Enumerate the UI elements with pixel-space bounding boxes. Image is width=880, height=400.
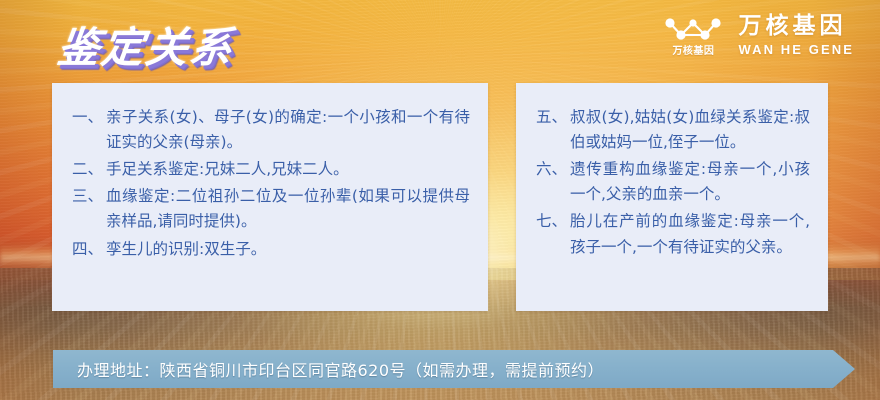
- list-item: 四、孪生儿的识别:双生子。: [72, 237, 470, 262]
- brand-logo: 万核基因: [662, 14, 724, 57]
- list-item-number: 七、: [536, 209, 570, 234]
- brand-lockup: 万核基因 万核基因 WAN HE GENE: [662, 14, 854, 57]
- list-item: 一、亲子关系(女)、母子(女)的确定:一个小孩和一个有待证实的父亲(母亲)。: [72, 105, 470, 155]
- list-item-number: 一、: [72, 105, 106, 130]
- address-banner: 办理地址：陕西省铜川市印台区同官路620号（如需办理，需提前预约）: [53, 350, 855, 388]
- list-item: 三、血缘鉴定:二位祖孙二位及一位孙辈(如果可以提供母亲样品,请同时提供)。: [72, 184, 470, 234]
- brand-name-cn: 万核基因: [738, 15, 854, 38]
- list-item-number: 六、: [536, 157, 570, 182]
- list-item: 七、胎儿在产前的血缘鉴定:母亲一个,孩子一个,一个有待证实的父亲。: [536, 209, 810, 259]
- list-item-text: 叔叔(女),姑姑(女)血绿关系鉴定:叔伯或姑妈一位,侄子一位。: [570, 105, 810, 155]
- relationship-card-right: 五、叔叔(女),姑姑(女)血绿关系鉴定:叔伯或姑妈一位,侄子一位。六、遗传重构血…: [516, 83, 828, 311]
- list-item-number: 三、: [72, 184, 106, 209]
- list-item: 二、手足关系鉴定:兄妹二人,兄妹二人。: [72, 157, 470, 182]
- content-cards: 一、亲子关系(女)、母子(女)的确定:一个小孩和一个有待证实的父亲(母亲)。二、…: [52, 83, 828, 311]
- relationship-card-left: 一、亲子关系(女)、母子(女)的确定:一个小孩和一个有待证实的父亲(母亲)。二、…: [52, 83, 488, 311]
- brand-wordmark: 万核基因 WAN HE GENE: [738, 15, 854, 56]
- list-item-text: 胎儿在产前的血缘鉴定:母亲一个,孩子一个,一个有待证实的父亲。: [570, 209, 810, 259]
- list-item-text: 亲子关系(女)、母子(女)的确定:一个小孩和一个有待证实的父亲(母亲)。: [106, 105, 470, 155]
- poster-root: 鉴定关系: [0, 0, 880, 400]
- list-item-text: 血缘鉴定:二位祖孙二位及一位孙辈(如果可以提供母亲样品,请同时提供)。: [106, 184, 470, 234]
- list-item-number: 五、: [536, 105, 570, 130]
- molecule-network-icon: [662, 14, 724, 44]
- list-item-number: 二、: [72, 157, 106, 182]
- list-item: 五、叔叔(女),姑姑(女)血绿关系鉴定:叔伯或姑妈一位,侄子一位。: [536, 105, 810, 155]
- address-text: 办理地址：陕西省铜川市印台区同官路620号（如需办理，需提前预约）: [53, 357, 604, 381]
- page-title: 鉴定关系: [54, 14, 238, 75]
- list-item-number: 四、: [72, 237, 106, 262]
- list-item-text: 孪生儿的识别:双生子。: [106, 237, 470, 262]
- list-item-text: 手足关系鉴定:兄妹二人,兄妹二人。: [106, 157, 470, 182]
- brand-logo-caption: 万核基因: [672, 47, 714, 57]
- header-bar: 鉴定关系: [0, 0, 880, 84]
- brand-name-en: WAN HE GENE: [738, 43, 854, 56]
- list-item-text: 遗传重构血缘鉴定:母亲一个,小孩一个,父亲的血亲一个。: [570, 157, 810, 207]
- list-item: 六、遗传重构血缘鉴定:母亲一个,小孩一个,父亲的血亲一个。: [536, 157, 810, 207]
